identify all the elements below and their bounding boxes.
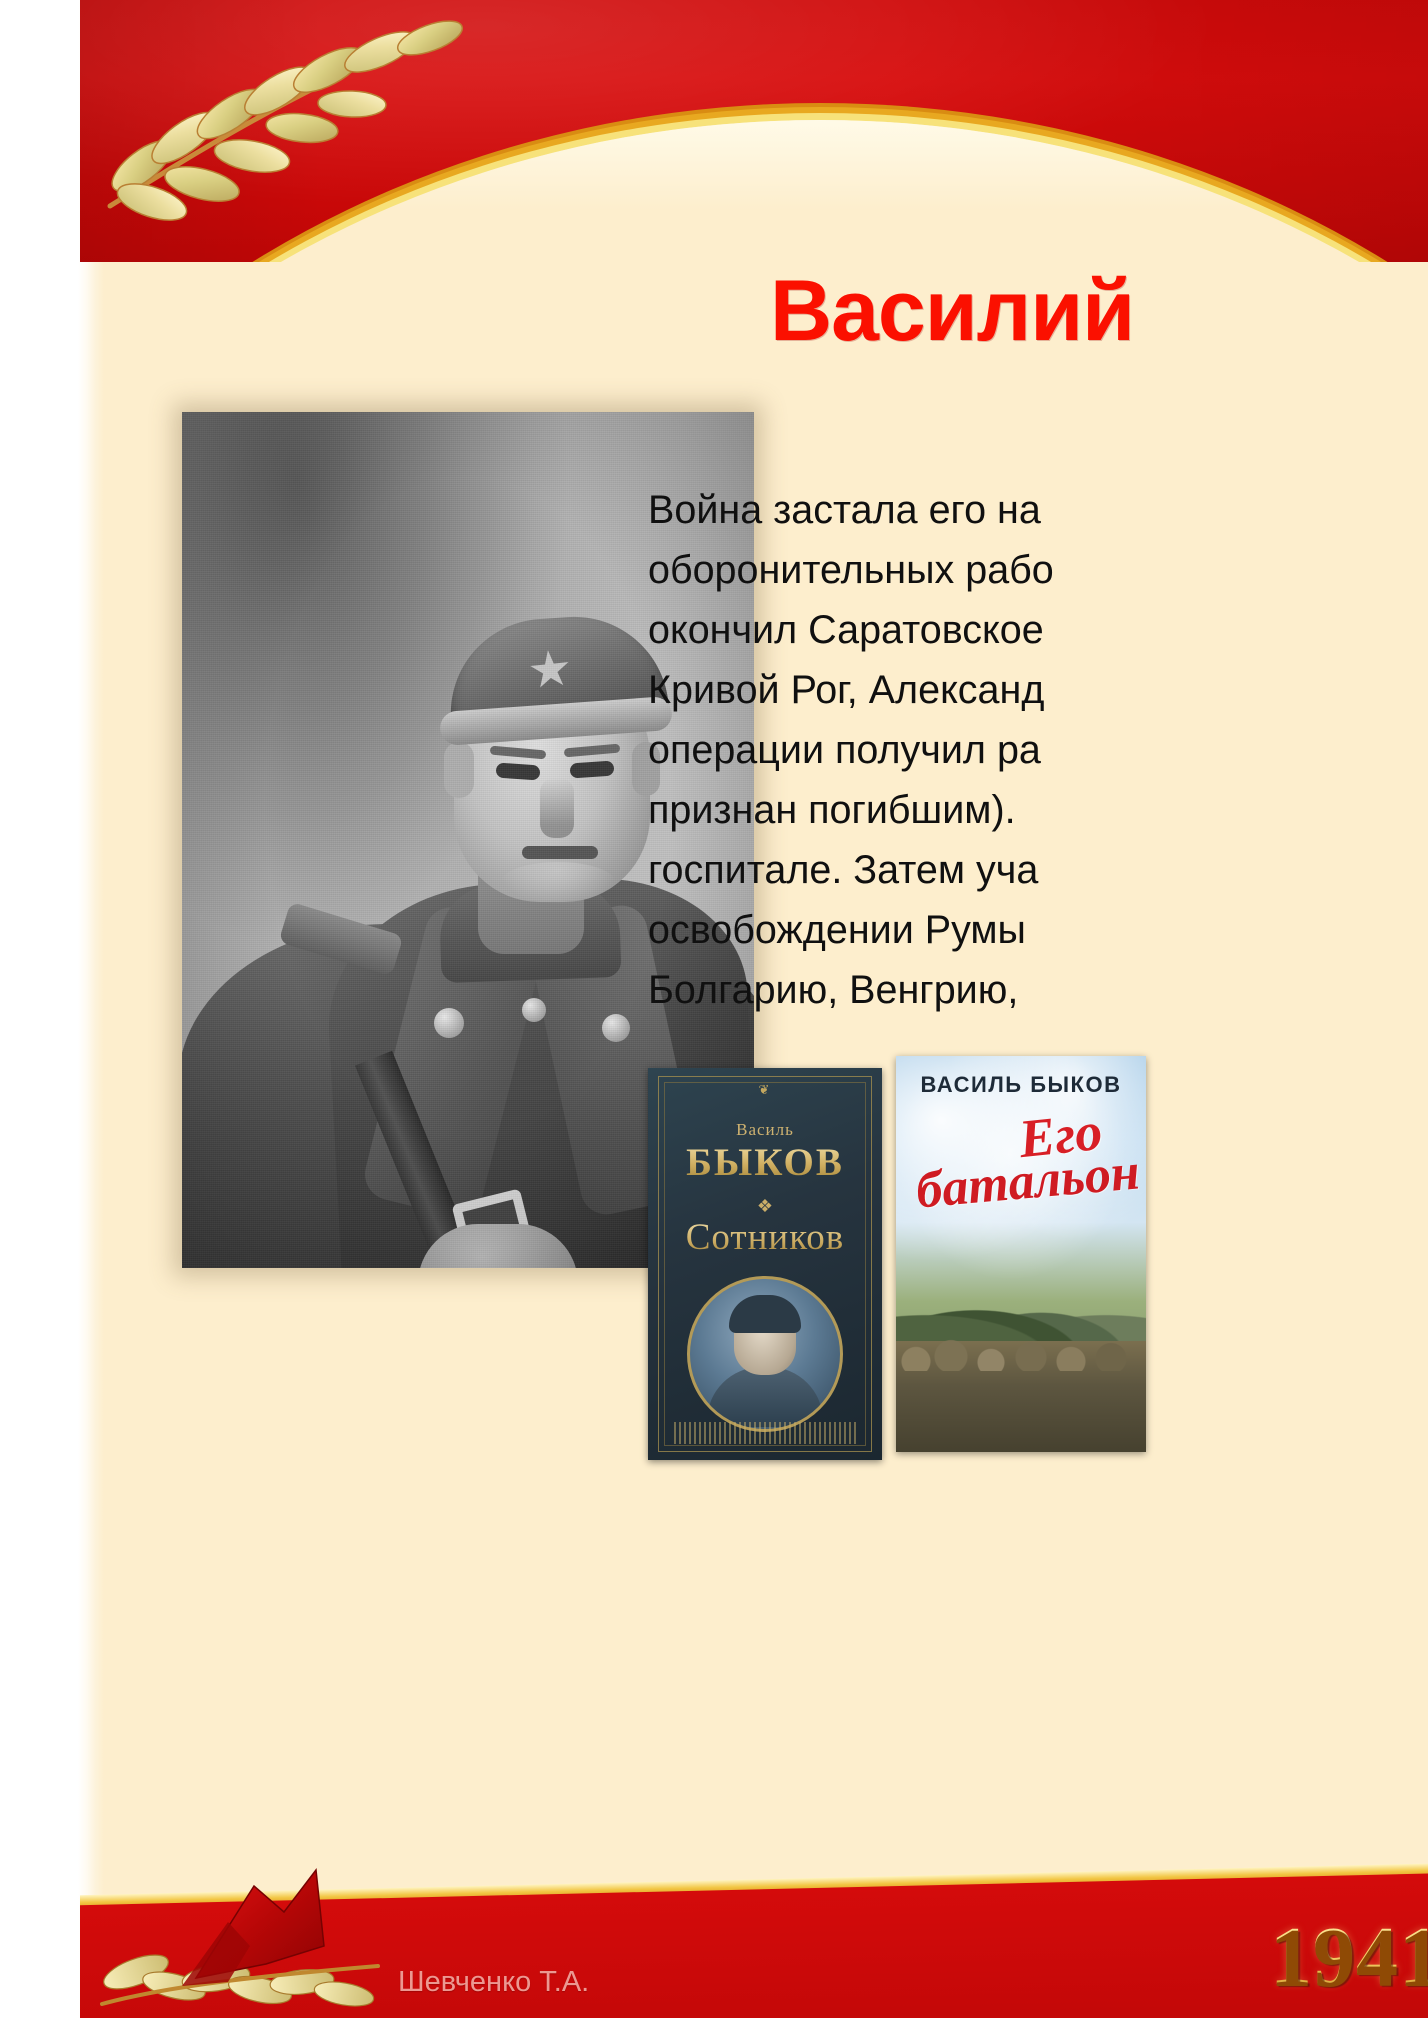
book-medallion-portrait xyxy=(687,1276,843,1432)
book-spine-ornament xyxy=(674,1422,856,1444)
body-line: окончил Саратовское xyxy=(648,600,1428,660)
slide-canvas: Василий Война застала его на оборонитель… xyxy=(0,0,1428,2018)
page-title: Василий xyxy=(770,262,1134,361)
body-line: Война застала его на xyxy=(648,480,1428,540)
book-ornament: ❦ xyxy=(648,1082,882,1098)
author-credit: Шевченко Т.А. xyxy=(398,1966,589,1999)
book-author-firstname: Василь xyxy=(648,1120,882,1140)
book-author: ВАСИЛЬ БЫКОВ xyxy=(896,1072,1146,1098)
book-cover-ego-batalyon: ВАСИЛЬ БЫКОВ Его батальон xyxy=(896,1056,1146,1452)
book-cover-sotnikov: ❦ Василь БЫКОВ ❖ Сотников xyxy=(648,1068,882,1460)
left-edge-gradient xyxy=(78,0,104,2018)
laurel-branch-icon xyxy=(80,6,480,236)
body-line: операции получил ра xyxy=(648,720,1428,780)
body-line: оборонительных рабо xyxy=(648,540,1428,600)
book-title: Сотников xyxy=(648,1216,882,1259)
body-line: признан погибшим). xyxy=(648,780,1428,840)
ribbon-laurel-icon xyxy=(78,1826,408,2018)
body-line: Кривой Рог, Александ xyxy=(648,660,1428,720)
book-author-surname: БЫКОВ xyxy=(648,1140,882,1185)
biography-text: Война застала его на оборонительных рабо… xyxy=(648,480,1428,1020)
body-line: освобождении Румы xyxy=(648,900,1428,960)
body-line: госпитале. Затем уча xyxy=(648,840,1428,900)
book-separator: ❖ xyxy=(648,1196,882,1217)
year-badge: 1941 xyxy=(1270,1908,1428,2005)
body-line: Болгарию, Венгрию, xyxy=(648,960,1428,1020)
